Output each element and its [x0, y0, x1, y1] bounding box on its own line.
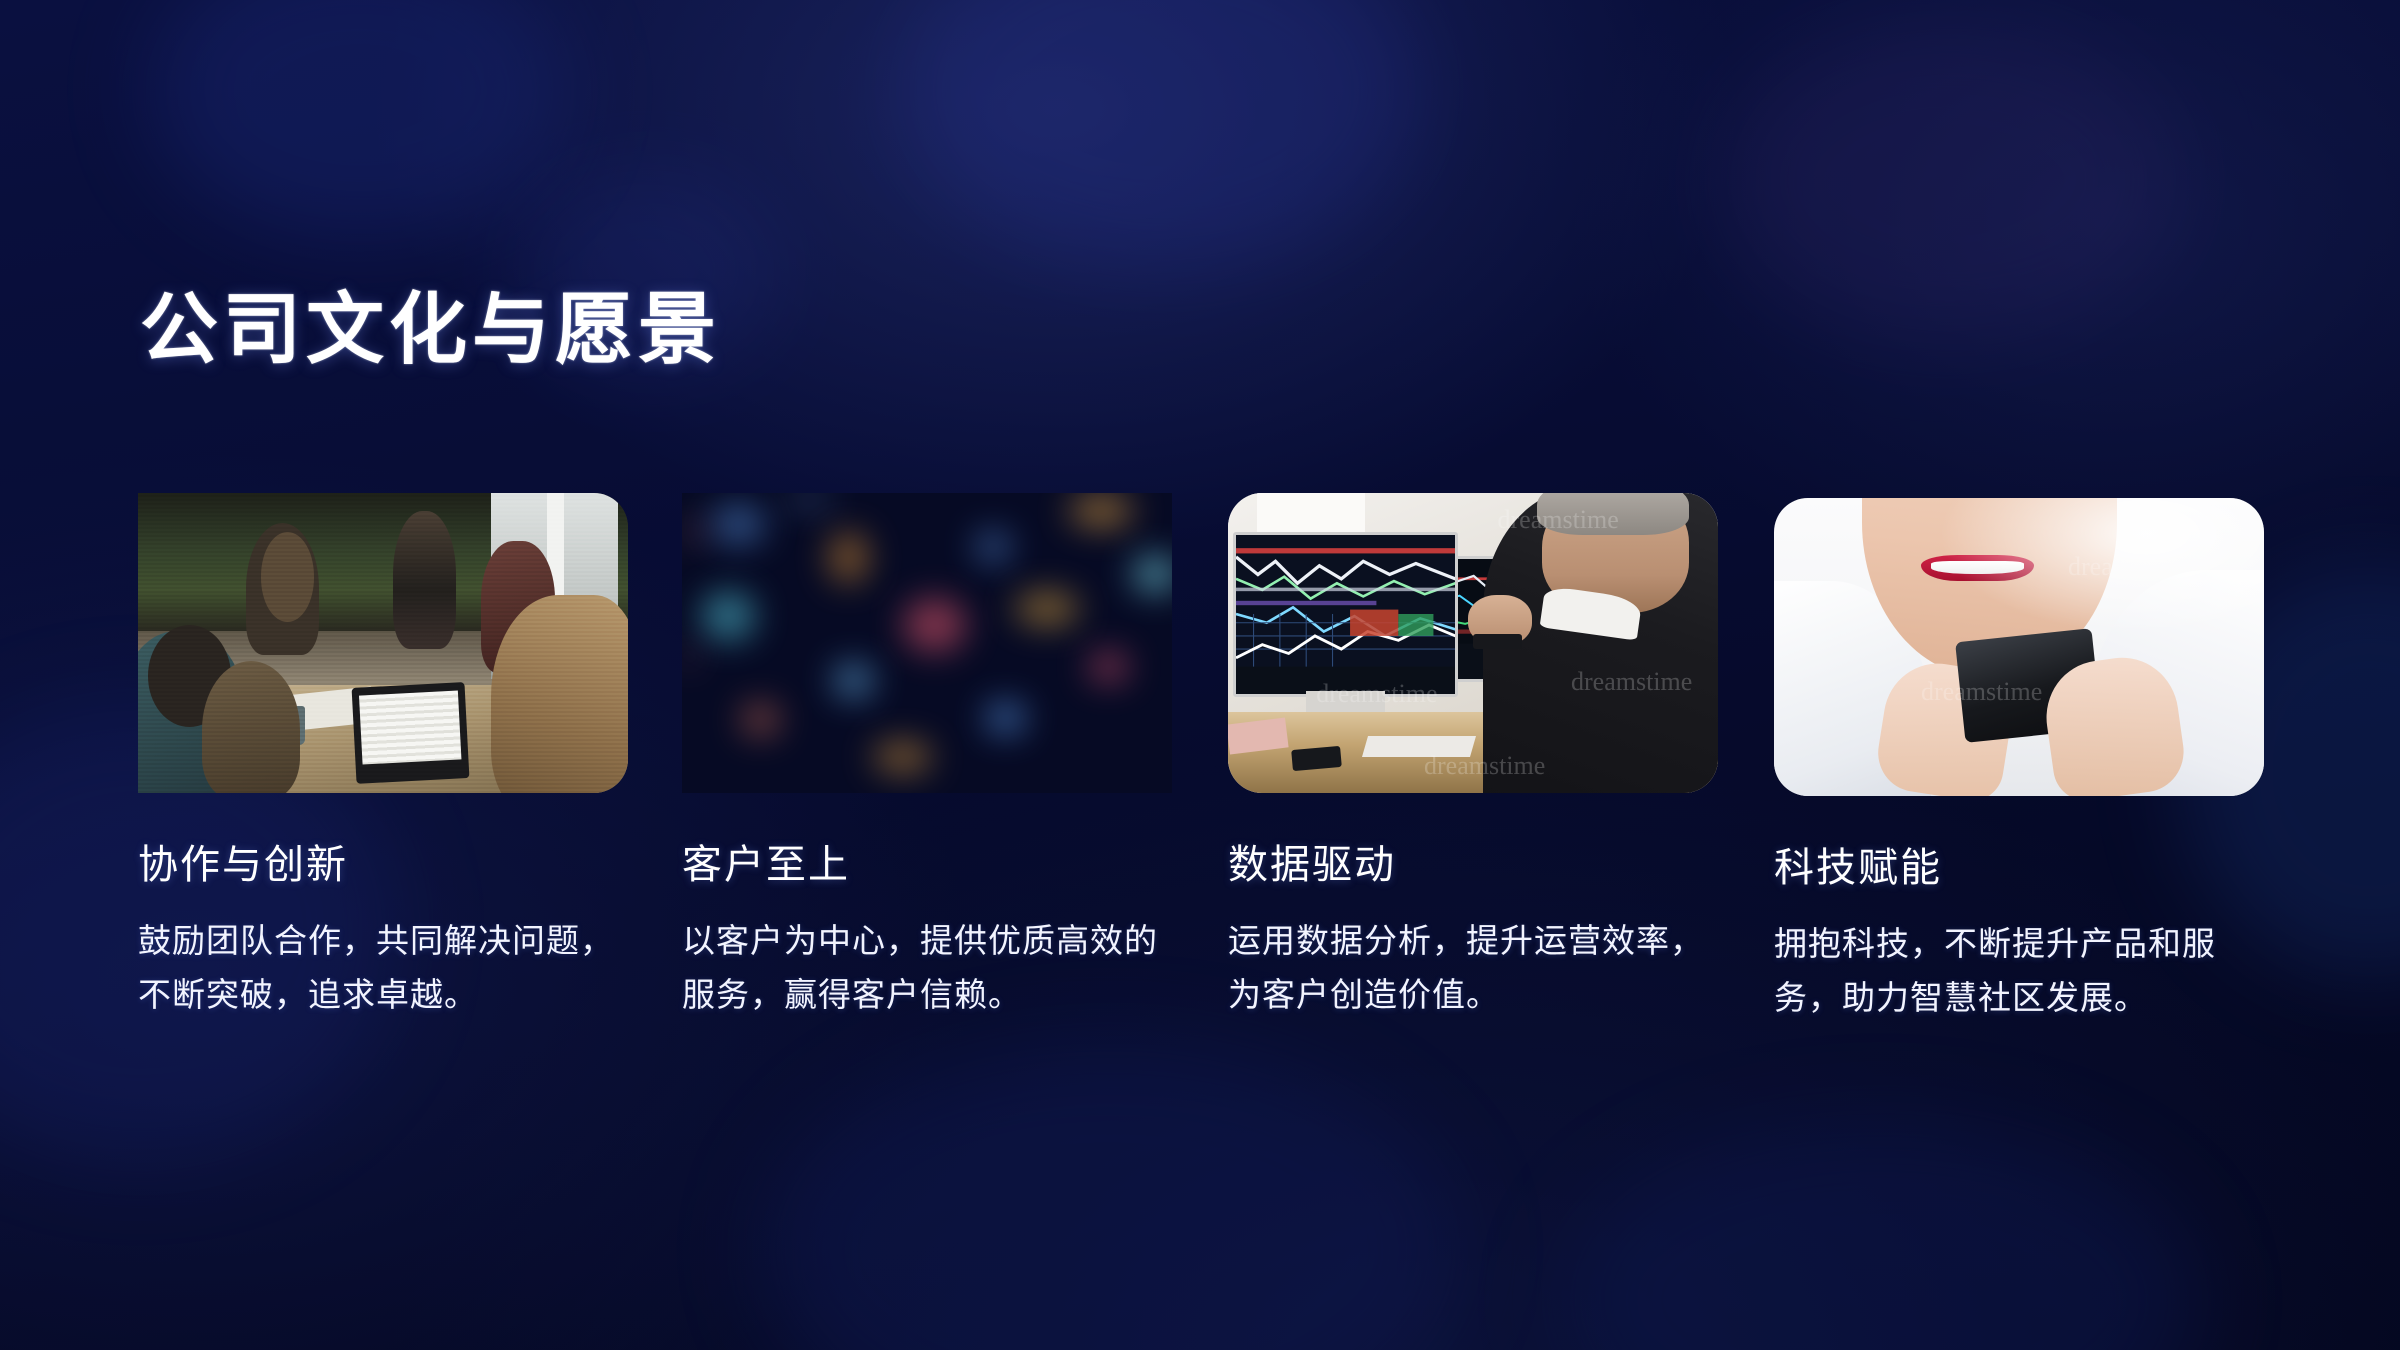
bokeh-dot	[986, 703, 1025, 733]
bokeh-dot	[682, 643, 697, 670]
bokeh-dot	[1015, 592, 1079, 625]
bokeh-dot	[682, 520, 702, 544]
card-description: 拥抱科技，不断提升产品和服务，助力智慧社区发展。	[1774, 918, 2266, 1027]
bokeh-dot	[711, 505, 765, 544]
bokeh-dot	[976, 532, 1010, 562]
stock-chart-icon	[1236, 535, 1455, 667]
bokeh-dot	[834, 664, 873, 697]
culture-card[interactable]: dreamstime dreamstime 科技赋能 拥抱科技，不断提升产品和服…	[1774, 498, 2274, 1027]
culture-card[interactable]: 协作与创新 鼓励团队合作，共同解决问题，不断突破，追求卓越。	[138, 493, 638, 1024]
bokeh-dot	[1069, 496, 1133, 526]
team-meeting-photo	[138, 493, 628, 793]
card-title: 科技赋能	[1774, 844, 2274, 892]
data-analyst-photo: dreamstime dreamstime dreamstime dreamst…	[1228, 493, 1718, 793]
card-title: 协作与创新	[138, 841, 638, 889]
bokeh-dot	[829, 532, 868, 583]
card-description: 以客户为中心，提供优质高效的服务，赢得客户信赖。	[682, 915, 1162, 1024]
card-title: 客户至上	[682, 841, 1182, 889]
card-description: 运用数据分析，提升运营效率，为客户创造价值。	[1228, 915, 1708, 1024]
culture-card[interactable]: dreamstime dreamstime dreamstime dreamst…	[1228, 493, 1728, 1024]
bokeh-dot	[702, 592, 756, 640]
bokeh-dot	[1089, 652, 1128, 682]
woman-smartphone-photo: dreamstime dreamstime	[1774, 498, 2264, 796]
bokeh-dot	[903, 598, 967, 652]
dark-bokeh-photo	[682, 493, 1172, 793]
culture-card-grid: 协作与创新 鼓励团队合作，共同解决问题，不断突破，追求卓越。 客户至上 以客户为…	[0, 0, 2400, 1350]
card-title: 数据驱动	[1228, 841, 1728, 889]
card-description: 鼓励团队合作，共同解决问题，不断突破，追求卓越。	[138, 915, 618, 1024]
bokeh-dot	[785, 493, 834, 508]
bokeh-dot	[1133, 556, 1172, 592]
bokeh-dot	[873, 742, 932, 772]
culture-card[interactable]: 客户至上 以客户为中心，提供优质高效的服务，赢得客户信赖。	[682, 493, 1182, 1024]
bokeh-dot	[741, 703, 780, 736]
slide-root: 公司文化与愿景	[0, 0, 2400, 1350]
